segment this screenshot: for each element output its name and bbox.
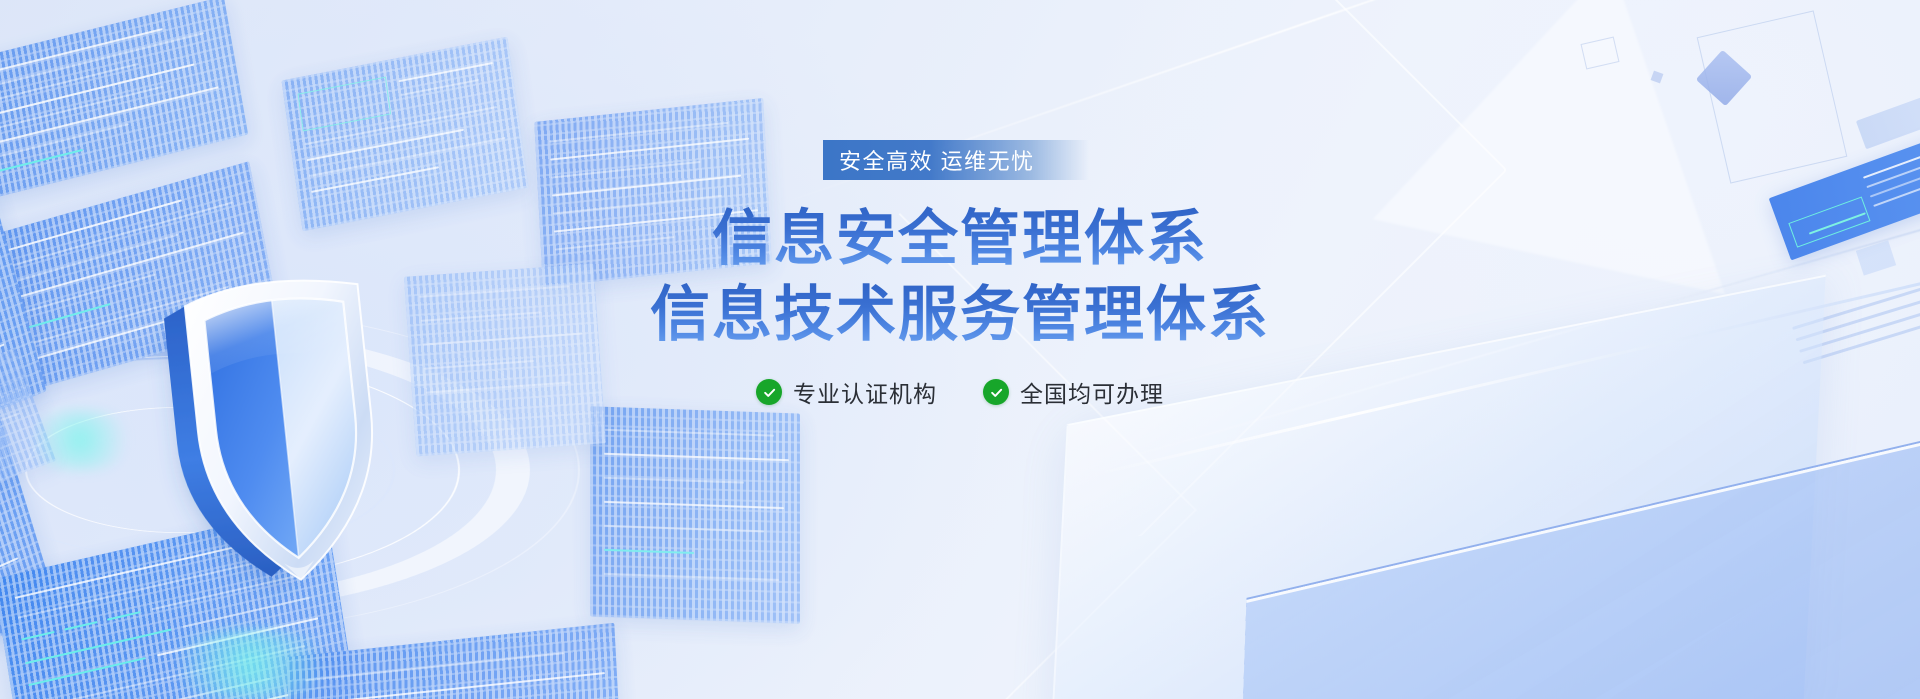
tagline-text: 安全高效 运维无忧	[839, 144, 1035, 176]
feature-badge-label: 全国均可办理	[1020, 375, 1164, 409]
feature-badge: 全国均可办理	[983, 375, 1164, 409]
check-circle-icon	[756, 379, 782, 405]
feature-badge-list: 专业认证机构 全国均可办理	[756, 375, 1164, 409]
feature-badge-label: 专业认证机构	[793, 375, 937, 409]
check-circle-icon	[983, 379, 1009, 405]
page-title-line-2: 信息技术服务管理体系	[650, 280, 1270, 350]
hero-banner: 安全高效 运维无忧 信息安全管理体系 信息技术服务管理体系 专业认证机构	[0, 0, 1920, 699]
page-title-line-1: 信息安全管理体系	[712, 204, 1208, 274]
tagline-banner: 安全高效 运维无忧	[823, 140, 1089, 180]
banner-content: 安全高效 运维无忧 信息安全管理体系 信息技术服务管理体系 专业认证机构	[0, 0, 1920, 699]
feature-badge: 专业认证机构	[756, 375, 937, 409]
